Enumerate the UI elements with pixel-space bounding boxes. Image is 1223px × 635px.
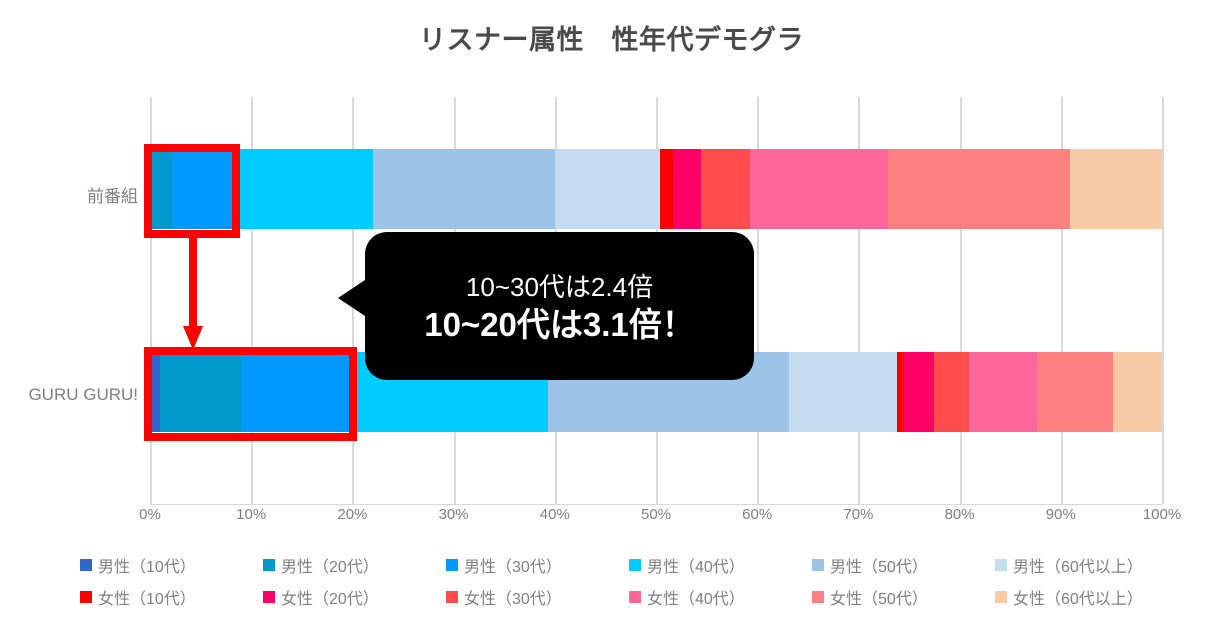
bar-segment — [673, 149, 700, 229]
page-title: リスナー属性 性年代デモグラ — [0, 18, 1223, 57]
legend-item[interactable]: 男性（60代以上） — [995, 553, 1178, 577]
legend-item-label: 男性（50代） — [830, 553, 928, 577]
legend-swatch-icon — [446, 559, 458, 571]
legend-swatch-icon — [446, 591, 458, 603]
x-axis-ticks: 0%10%20%30%40%50%60%70%80%90%100% — [150, 506, 1162, 530]
legend: 男性（10代）男性（20代）男性（30代）男性（40代）男性（50代）男性（60… — [80, 553, 1180, 609]
x-tick-label: 60% — [722, 506, 792, 523]
legend-item-label: 男性（10代） — [98, 553, 196, 577]
bar-segment — [555, 149, 660, 229]
legend-item[interactable]: 女性（50代） — [812, 585, 995, 609]
x-tick-label: 90% — [1026, 506, 1096, 523]
legend-row-female: 女性（10代）女性（20代）女性（30代）女性（40代）女性（50代）女性（60… — [80, 585, 1180, 609]
bar-segment — [1113, 352, 1162, 432]
bar-segment — [232, 149, 373, 229]
callout-line-1: 10~30代は2.4倍 — [466, 271, 653, 304]
bar-segment — [150, 149, 172, 229]
legend-swatch-icon — [629, 591, 641, 603]
legend-item[interactable]: 男性（10代） — [80, 553, 263, 577]
down-arrow-icon — [181, 238, 205, 353]
x-tick-label: 10% — [216, 506, 286, 523]
category-label-maeBangumi: 前番組 — [0, 182, 138, 207]
legend-swatch-icon — [629, 559, 641, 571]
legend-swatch-icon — [812, 559, 824, 571]
x-tick-label: 100% — [1127, 506, 1197, 523]
bar-segment — [888, 149, 1070, 229]
legend-item[interactable]: 男性（50代） — [812, 553, 995, 577]
legend-swatch-icon — [263, 591, 275, 603]
legend-item[interactable]: 女性（40代） — [629, 585, 812, 609]
legend-swatch-icon — [812, 591, 824, 603]
bar-segment — [969, 352, 1037, 432]
legend-item[interactable]: 男性（30代） — [446, 553, 629, 577]
legend-item-label: 男性（60代以上） — [1013, 553, 1143, 577]
gridline-100pct — [1162, 97, 1164, 504]
legend-row-male: 男性（10代）男性（20代）男性（30代）男性（40代）男性（50代）男性（60… — [80, 553, 1180, 577]
bar-segment — [701, 149, 751, 229]
legend-swatch-icon — [80, 591, 92, 603]
bar-segment — [660, 149, 673, 229]
legend-item-label: 女性（10代） — [98, 585, 196, 609]
legend-item[interactable]: 男性（40代） — [629, 553, 812, 577]
bar-segment — [373, 149, 555, 229]
legend-item[interactable]: 女性（20代） — [263, 585, 446, 609]
callout-line-2: 10~20代は3.1倍！ — [424, 304, 695, 345]
legend-item[interactable]: 女性（60代以上） — [995, 585, 1178, 609]
callout-bubble: 10~30代は2.4倍 10~20代は3.1倍！ — [365, 232, 754, 380]
x-tick-label: 30% — [419, 506, 489, 523]
legend-item[interactable]: 女性（10代） — [80, 585, 263, 609]
legend-swatch-icon — [80, 559, 92, 571]
bar-segment — [241, 352, 353, 432]
legend-item-label: 男性（40代） — [647, 553, 745, 577]
bar-segment — [172, 149, 232, 229]
x-axis-line — [150, 504, 1162, 505]
bar-segment — [1037, 352, 1114, 432]
legend-item-label: 女性（60代以上） — [1013, 585, 1143, 609]
legend-swatch-icon — [995, 591, 1007, 603]
x-tick-label: 20% — [317, 506, 387, 523]
bar-stack-maeBangumi — [150, 149, 1162, 229]
bar-segment — [150, 352, 160, 432]
bar-segment — [934, 352, 968, 432]
legend-item-label: 女性（50代） — [830, 585, 928, 609]
legend-item-label: 男性（20代） — [281, 553, 379, 577]
legend-item-label: 女性（20代） — [281, 585, 379, 609]
x-tick-label: 40% — [520, 506, 590, 523]
x-tick-label: 0% — [115, 506, 185, 523]
x-tick-label: 50% — [621, 506, 691, 523]
legend-item-label: 女性（30代） — [464, 585, 562, 609]
bar-segment — [160, 352, 241, 432]
callout-tail — [338, 278, 368, 318]
legend-item[interactable]: 男性（20代） — [263, 553, 446, 577]
legend-item[interactable]: 女性（30代） — [446, 585, 629, 609]
legend-item-label: 男性（30代） — [464, 553, 562, 577]
bar-segment — [903, 352, 934, 432]
bar-segment — [1070, 149, 1162, 229]
legend-item-label: 女性（40代） — [647, 585, 745, 609]
legend-swatch-icon — [263, 559, 275, 571]
x-tick-label: 80% — [925, 506, 995, 523]
legend-swatch-icon — [995, 559, 1007, 571]
category-label-guruguru: GURU GURU! — [0, 385, 138, 405]
bar-segment — [789, 352, 897, 432]
bar-segment — [750, 149, 888, 229]
x-tick-label: 70% — [823, 506, 893, 523]
